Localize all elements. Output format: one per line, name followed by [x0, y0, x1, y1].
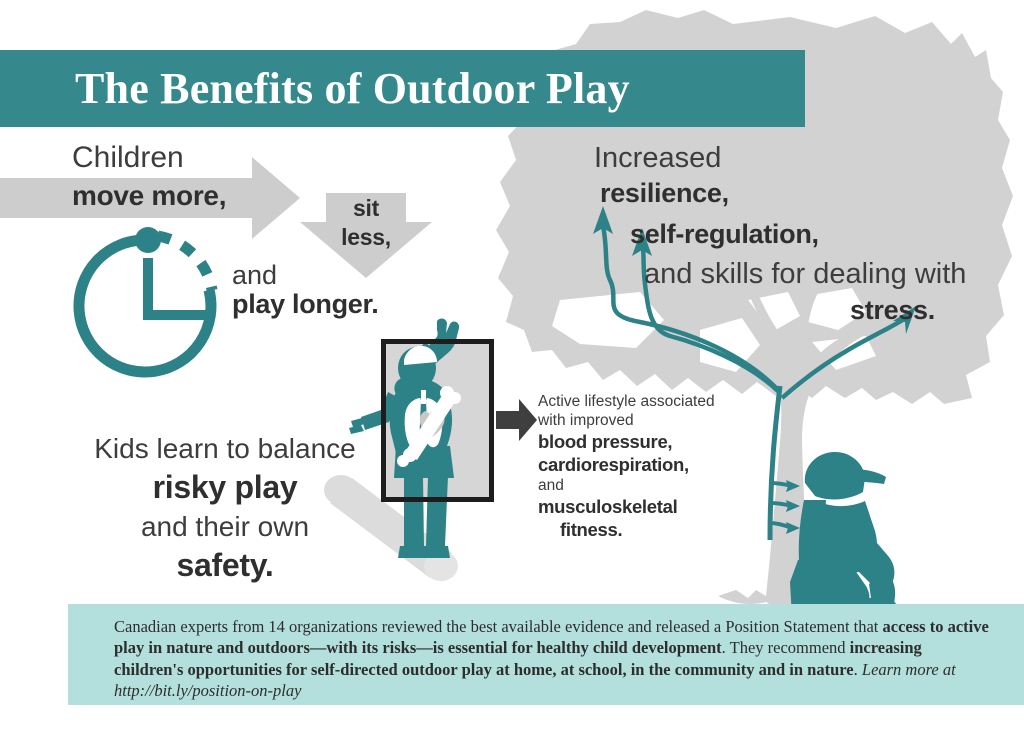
kids-line-2: risky play: [60, 468, 390, 507]
play-longer-label: play longer.: [232, 289, 378, 320]
active-line-7: fitness.: [538, 518, 758, 541]
climber-photo-frame: [381, 339, 494, 502]
dark-right-arrow-icon: [496, 399, 537, 441]
active-line-2: with improved: [538, 411, 758, 430]
active-line-3: blood pressure,: [538, 430, 758, 453]
kids-line-4: safety.: [60, 546, 390, 585]
curved-arrow-stress: [782, 318, 906, 398]
move-more-label: move more,: [72, 180, 226, 212]
banner-seg-1: Canadian experts from 14 organizations r…: [114, 617, 883, 636]
active-line-4: cardiorespiration,: [538, 453, 758, 476]
canopy-notch-4: [812, 336, 876, 370]
active-lifestyle-block: Active lifestyle associated with improve…: [538, 392, 758, 541]
canopy-notch-5: [552, 292, 664, 348]
arrow-stem: [770, 386, 780, 540]
infographic-canvas: The Benefits of Outdoor Play Children mo…: [0, 0, 1024, 751]
kids-line-1: Kids learn to balance: [60, 429, 390, 468]
child-sitting-under-tree-icon: [790, 452, 910, 629]
position-statement-text: Canadian experts from 14 organizations r…: [114, 616, 994, 701]
active-line-6: musculoskeletal: [538, 495, 758, 518]
increased-line-4: and skills for dealing with: [644, 258, 966, 291]
clock-icon: [79, 227, 213, 372]
banner-seg-3: . They recommend: [722, 638, 850, 657]
and-label: and: [232, 260, 277, 291]
increased-line-2: resilience,: [600, 178, 729, 209]
banner-seg-5: .: [854, 660, 862, 679]
sit-less-line-2: less,: [323, 223, 409, 252]
active-line-1: Active lifestyle associated: [538, 392, 758, 411]
active-line-5: and: [538, 476, 758, 495]
sit-less-label: sit less,: [323, 194, 409, 252]
children-label: Children: [72, 141, 184, 175]
kids-line-3: and their own: [60, 507, 390, 546]
increased-line-1: Increased: [594, 142, 721, 175]
increased-line-3: self-regulation,: [630, 219, 819, 250]
sit-less-line-1: sit: [323, 194, 409, 223]
risky-play-block: Kids learn to balance risky play and the…: [60, 429, 390, 585]
page-title: The Benefits of Outdoor Play: [75, 58, 805, 120]
canopy-notch-2: [748, 292, 800, 332]
position-statement-banner: Canadian experts from 14 organizations r…: [68, 604, 1024, 705]
curved-arrow-resilience: [603, 226, 778, 390]
canopy-notch-1: [700, 318, 760, 372]
arrowhead-resilience: [593, 206, 613, 234]
small-arrows-right-icon: [770, 483, 792, 528]
increased-line-5: stress.: [850, 295, 935, 326]
